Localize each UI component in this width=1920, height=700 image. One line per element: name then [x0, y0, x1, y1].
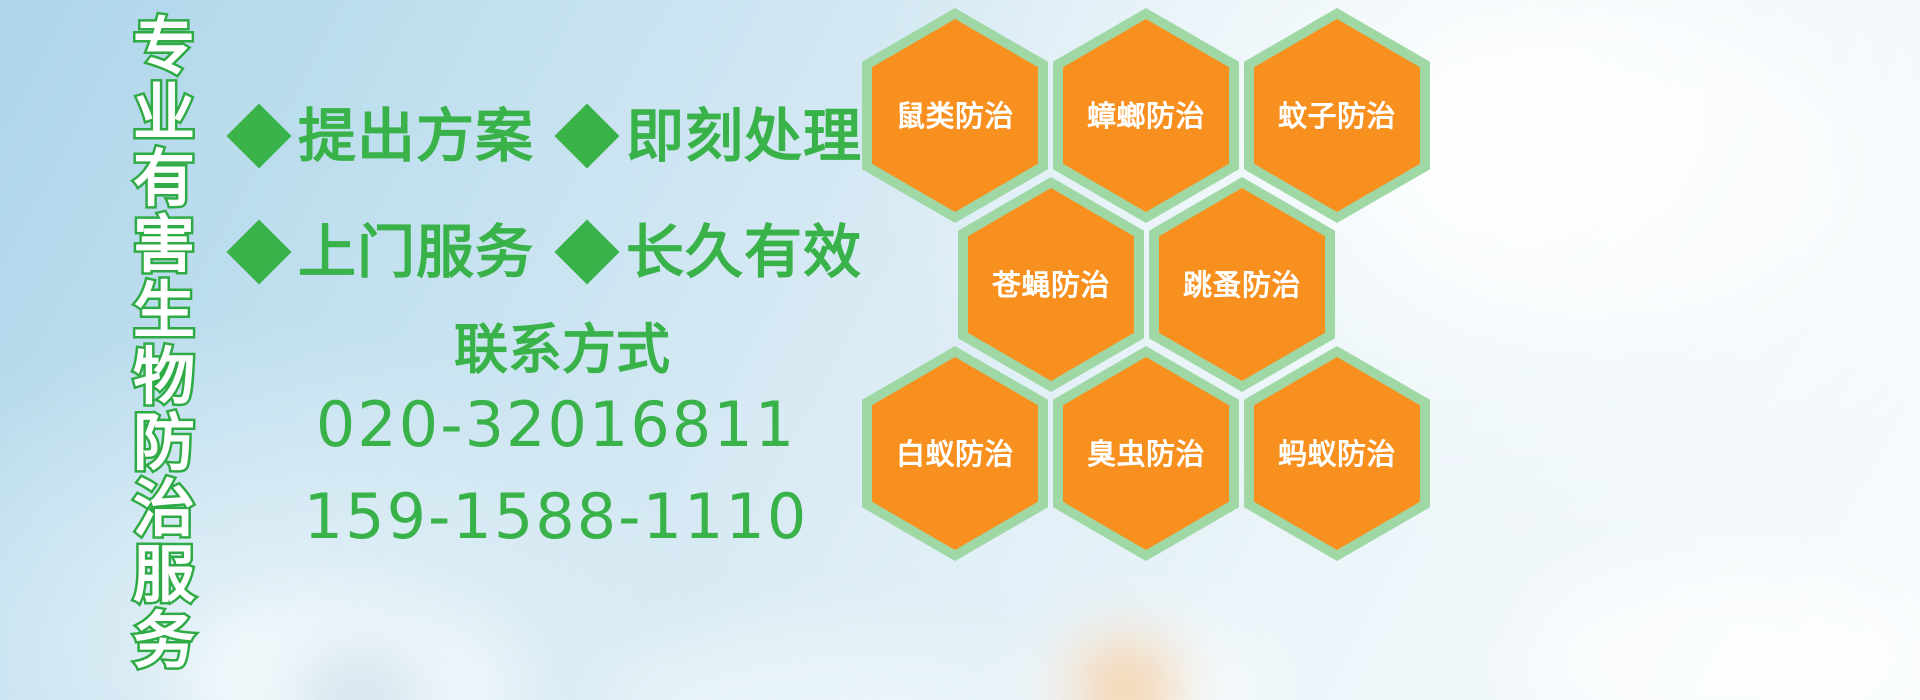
background-blob-left-small: [300, 660, 420, 700]
diamond-bullet-icon: [554, 103, 619, 168]
promo-banner: 专 业 有 害 生 物 防 治 服 务 提出方案 即刻处理 上门服务: [0, 0, 1920, 700]
vertical-headline-char: 专: [133, 14, 195, 80]
vertical-headline-char: 有: [133, 146, 195, 212]
service-hex-cockroach[interactable]: 蟑螂防治: [1053, 8, 1239, 223]
vertical-headline-char: 治: [133, 476, 195, 542]
service-hex-bedbug[interactable]: 臭虫防治: [1053, 346, 1239, 561]
feature-row: 提出方案 即刻处理: [236, 78, 866, 194]
contact-block: 联系方式 020-32016811 159-1588-1110: [236, 318, 876, 560]
service-label: 白蚁防治: [896, 438, 1014, 470]
service-hex-ant[interactable]: 蚂蚁防治: [1244, 346, 1430, 561]
service-hex-mosquito[interactable]: 蚊子防治: [1244, 8, 1430, 223]
service-hex-termite[interactable]: 白蚁防治: [862, 346, 1048, 561]
service-label: 鼠类防治: [896, 100, 1014, 132]
phone-number-landline[interactable]: 020-32016811: [236, 382, 876, 468]
diamond-bullet-icon: [226, 103, 291, 168]
vertical-headline-char: 害: [133, 212, 195, 278]
vertical-headline-char: 务: [133, 608, 195, 674]
background-blob-center: [600, 630, 1020, 700]
vertical-headline-char: 生: [133, 278, 195, 344]
background-blob-orange: [1080, 648, 1170, 700]
vertical-headline: 专 业 有 害 生 物 防 治 服 务: [112, 14, 216, 694]
service-label: 跳蚤防治: [1183, 269, 1301, 301]
phone-number-mobile[interactable]: 159-1588-1110: [236, 474, 876, 560]
vertical-headline-char: 业: [133, 80, 195, 146]
service-label: 苍蝇防治: [992, 269, 1110, 301]
feature-label: 长久有效: [626, 223, 862, 281]
feature-label: 上门服务: [298, 223, 534, 281]
feature-label: 提出方案: [298, 107, 534, 165]
feature-item: 即刻处理: [564, 107, 862, 165]
vertical-headline-char: 物: [133, 344, 195, 410]
service-label: 蚂蚁防治: [1278, 438, 1396, 470]
feature-row: 上门服务 长久有效: [236, 194, 866, 310]
contact-title: 联系方式: [248, 318, 876, 382]
vertical-headline-char: 服: [133, 542, 195, 608]
background-blob-left: [180, 600, 520, 700]
service-label: 臭虫防治: [1087, 438, 1205, 470]
diamond-bullet-icon: [226, 219, 291, 284]
background-blob-center-right: [1020, 620, 1280, 700]
feature-list: 提出方案 即刻处理 上门服务 长久有效: [236, 78, 866, 310]
feature-item: 提出方案: [236, 107, 534, 165]
service-label: 蟑螂防治: [1087, 100, 1205, 132]
feature-item: 上门服务: [236, 223, 534, 281]
feature-item: 长久有效: [564, 223, 862, 281]
diamond-bullet-icon: [554, 219, 619, 284]
feature-label: 即刻处理: [626, 107, 862, 165]
service-hex-flea[interactable]: 跳蚤防治: [1149, 177, 1335, 392]
service-hex-rodent[interactable]: 鼠类防治: [862, 8, 1048, 223]
service-honeycomb: 鼠类防治 蟑螂防治 蚊子防治 苍蝇防治 跳蚤防治 白蚁防治 臭虫防治 蚂蚁: [862, 0, 1462, 560]
service-label: 蚊子防治: [1278, 100, 1396, 132]
service-hex-fly[interactable]: 苍蝇防治: [958, 177, 1144, 392]
vertical-headline-char: 防: [133, 410, 195, 476]
background-blob-right: [1520, 560, 1920, 700]
